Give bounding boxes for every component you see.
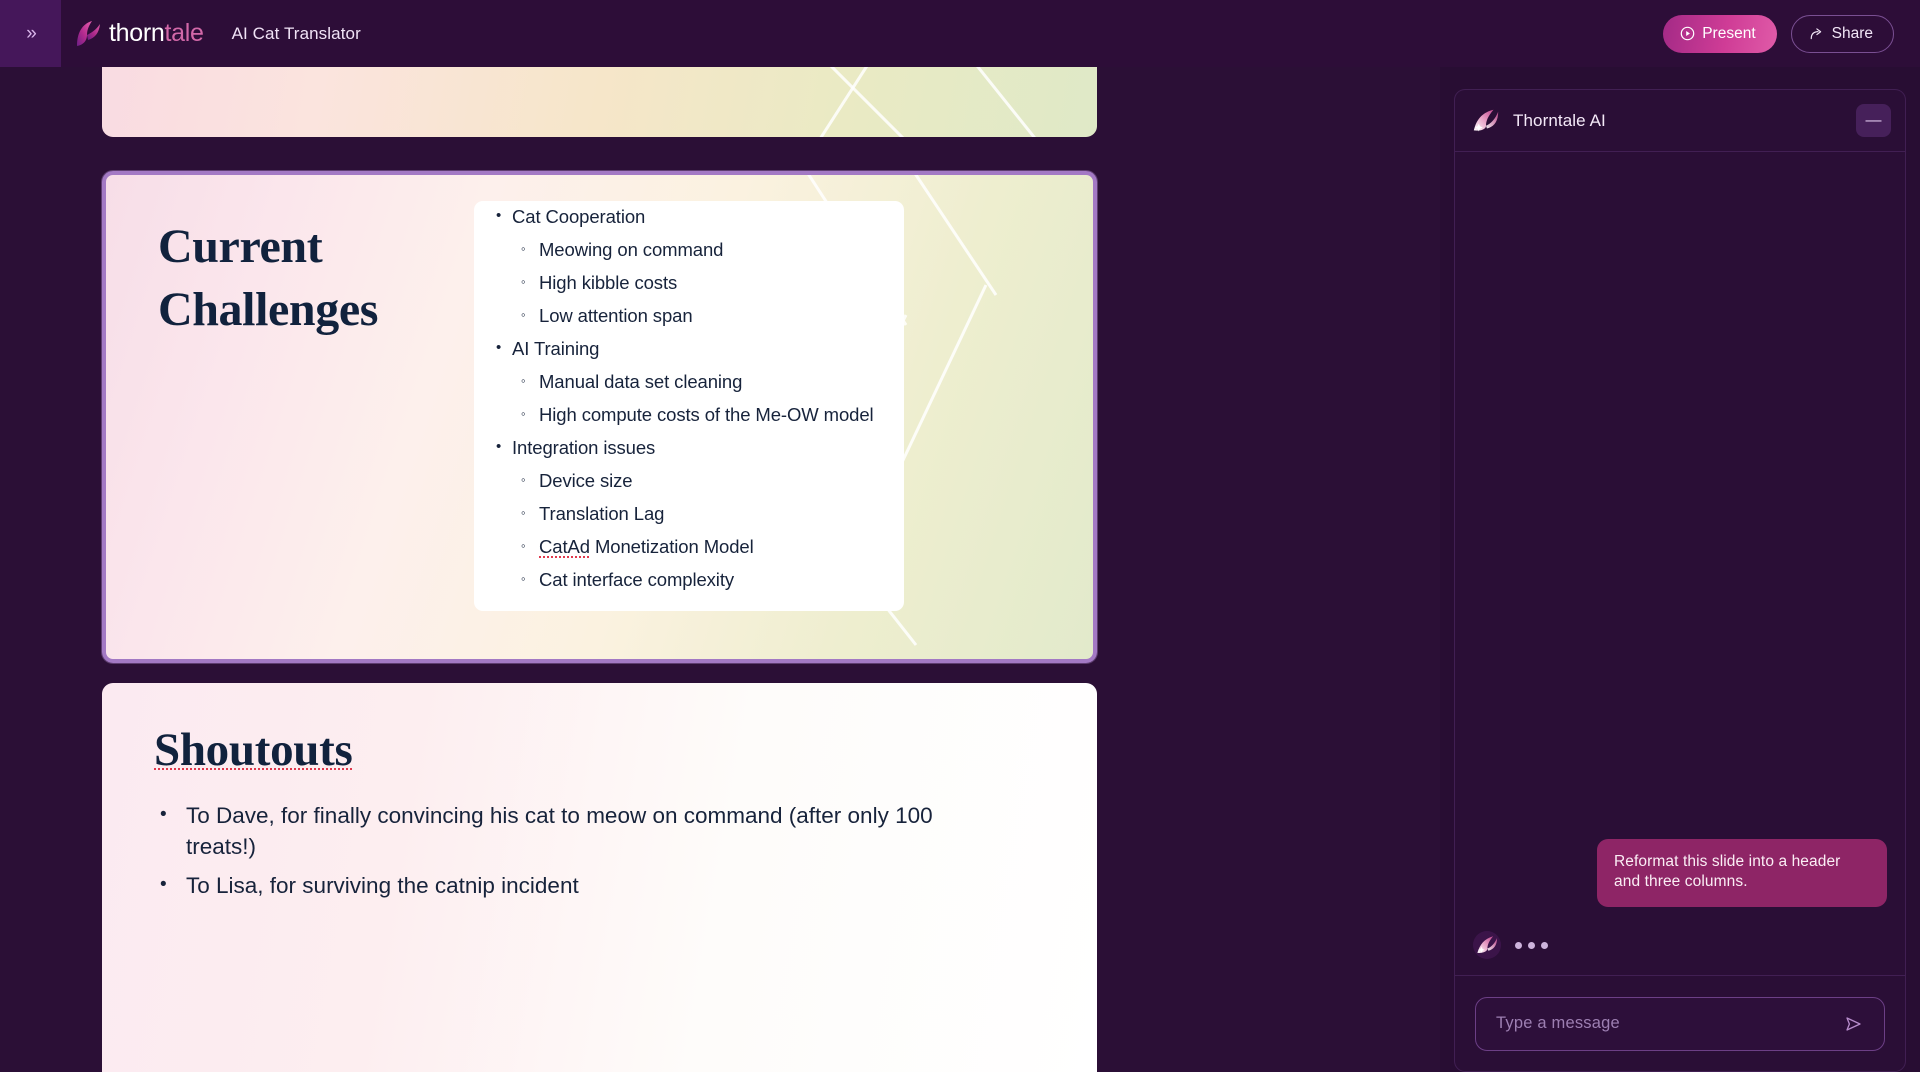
bullet-text: Device size <box>539 472 633 491</box>
bullet-text: Low attention span <box>539 307 693 326</box>
bullet-text: To Lisa, for surviving the catnip incide… <box>186 871 579 902</box>
share-arrow-icon <box>1809 26 1824 41</box>
ai-panel-title: Thorntale AI <box>1513 111 1606 131</box>
bullet-item: •AI Training <box>496 340 916 359</box>
bullet-item: ◦High kibble costs <box>496 274 916 293</box>
bullet-item: •Cat Cooperation <box>496 208 916 227</box>
bullet-text: Translation Lag <box>539 505 664 524</box>
bullet-item: ◦High compute costs of the Me-OW model <box>496 406 916 425</box>
message-row-assistant <box>1473 931 1887 959</box>
bullet-marker-filled-icon: • <box>496 208 512 224</box>
slide-title[interactable]: Current Challenges <box>158 215 458 342</box>
brand-wordmark: thorntale <box>109 19 204 48</box>
bullet-marker-hollow-icon: ◦ <box>521 241 539 257</box>
send-icon <box>1842 1013 1864 1035</box>
bullet-marker-hollow-icon: ◦ <box>521 571 539 587</box>
slide-bullet-list[interactable]: •To Dave, for finally convincing his cat… <box>160 801 950 909</box>
bullet-text: To Dave, for finally convincing his cat … <box>186 801 950 863</box>
present-button[interactable]: Present <box>1663 15 1776 53</box>
share-label: Share <box>1832 25 1873 43</box>
bullet-item-misspelled: ◦CatAd Monetization Model <box>496 538 916 557</box>
bullet-text: Manual data set cleaning <box>539 373 742 392</box>
bullet-item: ◦Translation Lag <box>496 505 916 524</box>
thorntale-sparkle-avatar-icon <box>1471 106 1501 136</box>
message-row-user: Reformat this slide into a header and th… <box>1473 839 1887 907</box>
bullet-item: ◦Low attention span <box>496 307 916 326</box>
expand-sidebar-button[interactable]: » <box>0 0 61 67</box>
slide-thumbnail-previous[interactable] <box>102 67 1097 137</box>
slide-bullet-list[interactable]: •Cat Cooperation ◦Meowing on command ◦Hi… <box>496 208 916 604</box>
top-bar: » thorntale AI Cat Translator Present <box>0 0 1920 67</box>
message-input[interactable] <box>1496 1014 1838 1033</box>
bullet-text: High compute costs of the Me-OW model <box>539 406 874 425</box>
bullet-item: ◦Device size <box>496 472 916 491</box>
bullet-text-rest: Monetization Model <box>590 536 754 557</box>
slide-decoration-lines <box>102 67 1097 137</box>
send-message-button[interactable] <box>1838 1009 1868 1039</box>
bullet-marker-filled-icon: • <box>496 340 512 356</box>
ai-assistant-container: Thorntale AI — Reformat this slide into … <box>1454 89 1906 1072</box>
typing-dot <box>1528 942 1535 949</box>
bullet-item: ◦Manual data set cleaning <box>496 373 916 392</box>
bullet-item: ◦Meowing on command <box>496 241 916 260</box>
ai-message-thread: Reformat this slide into a header and th… <box>1455 152 1905 975</box>
brand-word-secondary: tale <box>164 19 203 47</box>
assistant-avatar-icon <box>1473 931 1501 959</box>
bullet-marker-hollow-icon: ◦ <box>521 307 539 323</box>
message-input-wrapper[interactable] <box>1475 997 1885 1051</box>
play-circle-icon <box>1680 26 1695 41</box>
ai-panel-header: Thorntale AI — <box>1455 90 1905 152</box>
bullet-marker-hollow-icon: ◦ <box>521 274 539 290</box>
ai-composer <box>1455 975 1905 1071</box>
bullet-text: Cat interface complexity <box>539 571 734 590</box>
ai-assistant-panel: Thorntale AI — Reformat this slide into … <box>1440 67 1920 1072</box>
brand-logo[interactable]: thorntale <box>70 17 204 51</box>
slide-shoutouts[interactable]: Shoutouts •To Dave, for finally convinci… <box>102 683 1097 1072</box>
bullet-marker-hollow-icon: ◦ <box>521 538 539 554</box>
bullet-marker-filled-icon: • <box>496 439 512 455</box>
thorntale-mark-icon <box>70 17 104 51</box>
bullet-marker-hollow-icon: ◦ <box>521 373 539 389</box>
typing-indicator <box>1515 942 1548 949</box>
top-bar-actions: Present Share <box>1663 15 1920 53</box>
bullet-text: CatAd Monetization Model <box>539 538 754 557</box>
slide-canvas[interactable]: Current Challenges •Cat Cooperation ◦Meo… <box>0 67 1440 1072</box>
share-button[interactable]: Share <box>1791 15 1894 53</box>
bullet-text: High kibble costs <box>539 274 677 293</box>
slide-title[interactable]: Shoutouts <box>154 723 352 777</box>
bullet-text: Meowing on command <box>539 241 723 260</box>
spellcheck-flagged-word[interactable]: CatAd <box>539 536 590 557</box>
typing-dot <box>1541 942 1548 949</box>
bullet-marker-filled-icon: • <box>160 871 186 899</box>
typing-dot <box>1515 942 1522 949</box>
bullet-text: Integration issues <box>512 439 655 458</box>
present-label: Present <box>1702 25 1755 43</box>
bullet-marker-hollow-icon: ◦ <box>521 505 539 521</box>
minimize-panel-button[interactable]: — <box>1856 104 1891 137</box>
bullet-marker-hollow-icon: ◦ <box>521 406 539 422</box>
bullet-item: •Integration issues <box>496 439 916 458</box>
bullet-text: Cat Cooperation <box>512 208 645 227</box>
slide-current-challenges[interactable]: Current Challenges •Cat Cooperation ◦Meo… <box>102 171 1097 663</box>
brand-word-primary: thorn <box>109 19 164 47</box>
chevron-double-right-icon: » <box>26 24 35 43</box>
document-title[interactable]: AI Cat Translator <box>232 24 361 44</box>
bullet-marker-hollow-icon: ◦ <box>521 472 539 488</box>
bullet-marker-filled-icon: • <box>160 801 186 829</box>
user-message-bubble: Reformat this slide into a header and th… <box>1597 839 1887 907</box>
bullet-item: •To Dave, for finally convincing his cat… <box>160 801 950 863</box>
bullet-text: AI Training <box>512 340 599 359</box>
bullet-item: •To Lisa, for surviving the catnip incid… <box>160 871 950 902</box>
bullet-item: ◦Cat interface complexity <box>496 571 916 590</box>
